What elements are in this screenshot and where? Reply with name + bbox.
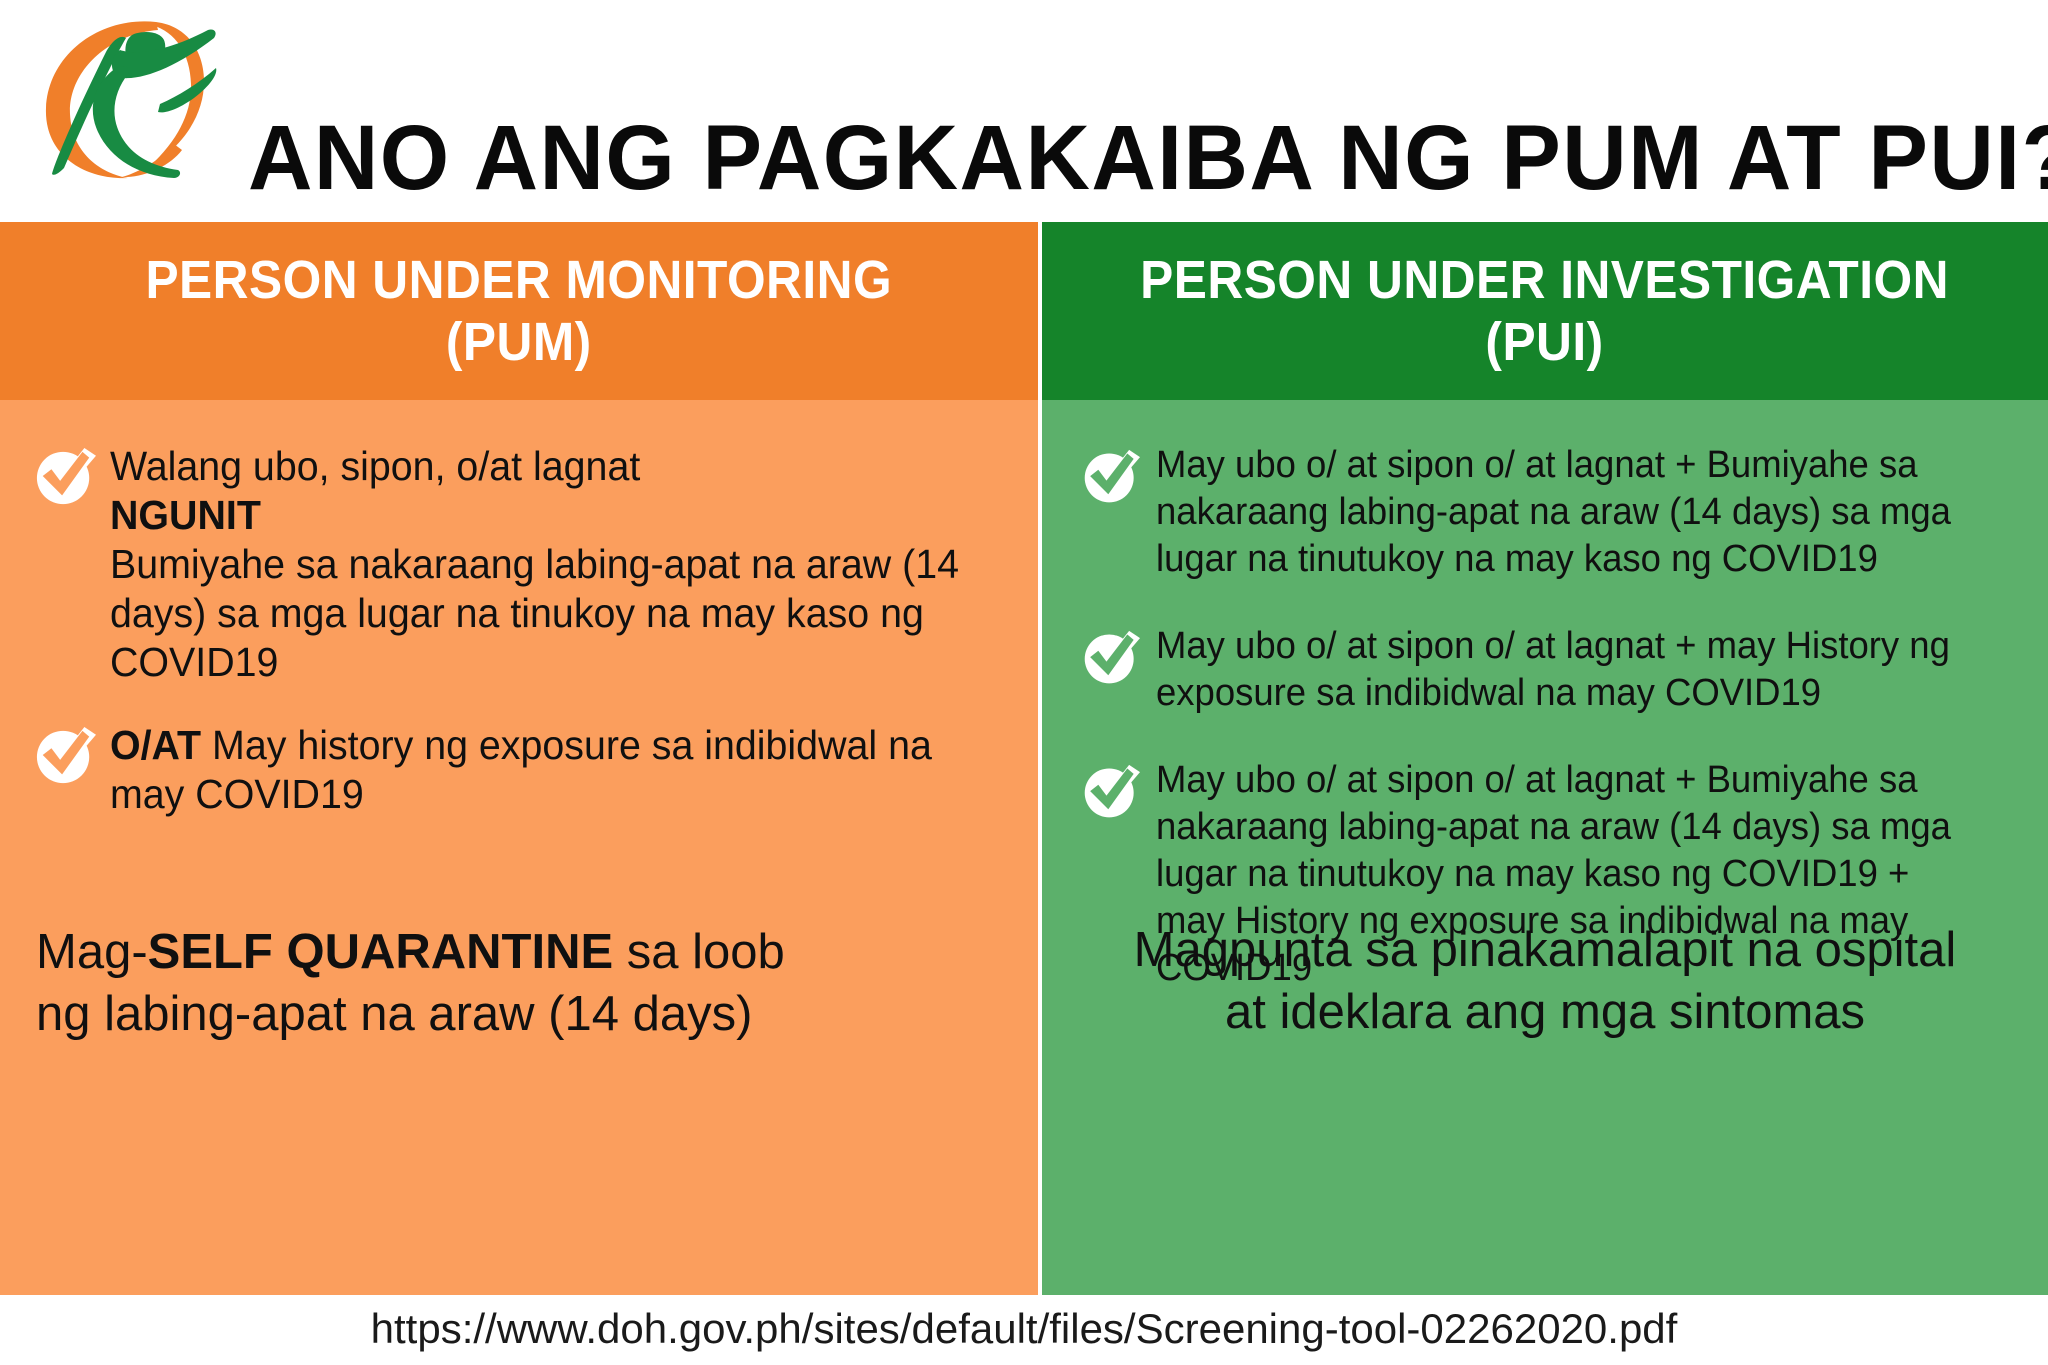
body-text: Bumiyahe sa nakaraang labing-apat na ara…	[110, 541, 959, 685]
callout-line: ng labing-apat na araw (14 days)	[36, 983, 978, 1045]
callout-pui: Magpunta sa pinakamalapit na ospitalat i…	[1042, 919, 2048, 1043]
emphasis-text: SELF QUARANTINE	[148, 925, 614, 979]
callout-line: Mag-SELF QUARANTINE sa loob	[36, 921, 978, 983]
column-header-pum-line1: PERSON UNDER MONITORING	[146, 250, 893, 310]
body-text: Walang ubo, sipon, o/at lagnat	[110, 443, 640, 489]
bullet-text: May ubo o/ at sipon o/ at lagnat + Bumiy…	[1156, 442, 1978, 583]
callout-pum: Mag-SELF QUARANTINE sa loobng labing-apa…	[0, 921, 1038, 1045]
bullet-text: May ubo o/ at sipon o/ at lagnat + may H…	[1156, 623, 1978, 717]
body-text: May history ng exposure sa indibidwal na…	[110, 722, 932, 817]
callout-line: at ideklara ang mga sintomas	[1082, 981, 2008, 1043]
check-circle-icon	[34, 446, 96, 508]
column-body-pui: May ubo o/ at sipon o/ at lagnat + Bumiy…	[1042, 400, 2048, 1295]
check-circle-icon	[34, 725, 96, 787]
check-circle-icon	[1082, 763, 1140, 821]
body-text: May ubo o/ at sipon o/ at lagnat + may H…	[1156, 625, 1950, 714]
bullet-text: Walang ubo, sipon, o/at lagnatNGUNITBumi…	[110, 442, 962, 687]
column-header-pum: PERSON UNDER MONITORING (PUM)	[0, 222, 1038, 400]
emphasis-text: O/AT	[110, 722, 212, 768]
infographic-root: ANO ANG PAGKAKAIBA NG PUM AT PUI? PERSON…	[0, 0, 2048, 1365]
check-circle-icon	[1082, 448, 1140, 506]
bullet-item: Walang ubo, sipon, o/at lagnatNGUNITBumi…	[34, 442, 998, 687]
column-header-pui-line1: PERSON UNDER INVESTIGATION	[1141, 250, 1950, 310]
bullet-list-pum: Walang ubo, sipon, o/at lagnatNGUNITBumi…	[0, 400, 1038, 853]
bullet-item: May ubo o/ at sipon o/ at lagnat + Bumiy…	[1082, 442, 2012, 583]
body-text: ng labing-apat na araw (14 days)	[36, 987, 752, 1041]
doh-brushstroke-logo	[28, 8, 218, 183]
emphasis-text: NGUNIT	[110, 492, 261, 538]
body-text: sa loob	[613, 925, 785, 979]
column-header-pui: PERSON UNDER INVESTIGATION (PUI)	[1042, 222, 2048, 400]
column-body-pum: Walang ubo, sipon, o/at lagnatNGUNITBumi…	[0, 400, 1038, 1295]
bullet-item: May ubo o/ at sipon o/ at lagnat + may H…	[1082, 623, 2012, 717]
column-header-pui-line2: (PUI)	[1486, 312, 1604, 372]
body-text: May ubo o/ at sipon o/ at lagnat + Bumiy…	[1156, 444, 1951, 580]
column-header-pum-line2: (PUM)	[446, 312, 592, 372]
source-url[interactable]: https://www.doh.gov.ph/sites/default/fil…	[0, 1300, 2048, 1358]
check-circle-icon	[1082, 629, 1140, 687]
column-header-pui-text: PERSON UNDER INVESTIGATION (PUI)	[1141, 249, 1950, 373]
body-text: Mag-	[36, 925, 148, 979]
bullet-item: O/AT May history ng exposure sa indibidw…	[34, 721, 998, 819]
bullet-text: O/AT May history ng exposure sa indibidw…	[110, 721, 962, 819]
title-bar: ANO ANG PAGKAKAIBA NG PUM AT PUI?	[0, 0, 2048, 222]
page-title: ANO ANG PAGKAKAIBA NG PUM AT PUI?	[248, 108, 1975, 208]
column-header-pum-text: PERSON UNDER MONITORING (PUM)	[146, 249, 893, 373]
callout-line: Magpunta sa pinakamalapit na ospital	[1082, 919, 2008, 981]
